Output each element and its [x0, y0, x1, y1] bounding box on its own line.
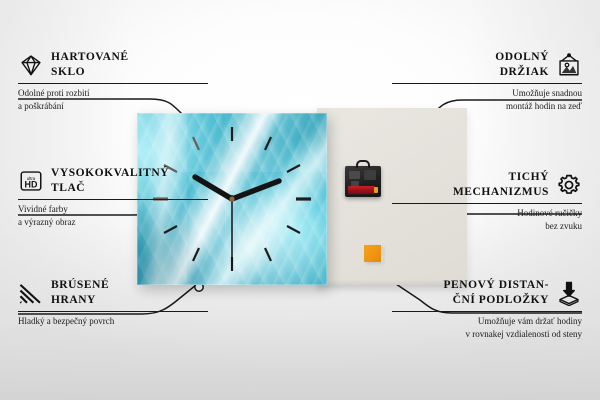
foam-spacer-pad	[364, 245, 381, 262]
feature-desc-line: Umožňuje vám držať hodiny	[392, 315, 582, 328]
gear-icon	[556, 172, 582, 198]
feature-desc-line: Hladký a bezpečný povrch	[18, 315, 208, 328]
ultra-hd-icon: ultra HD	[18, 168, 44, 194]
feature-title-line: TLAČ	[51, 181, 169, 196]
feature-divider	[18, 311, 208, 312]
feature-foam-spacers: PENOVÝ DISTAN- ČNÍ PODLOŽKY Umožňuje vám…	[392, 278, 582, 341]
feature-desc-line: v rovnakej vzdialenosti od steny	[392, 328, 582, 341]
press-down-pad-icon	[556, 280, 582, 306]
feature-title-line: PENOVÝ DISTAN-	[443, 278, 549, 293]
feature-desc-line: a poškrábání	[18, 100, 208, 113]
feature-title-line: BRÚSENÉ	[51, 278, 109, 293]
clock-mechanism	[345, 166, 381, 197]
mechanism-detail	[349, 171, 360, 179]
feature-ground-edges: BRÚSENÉ HRANY Hladký a bezpečný povrch	[18, 278, 208, 328]
mechanism-hanger	[356, 160, 370, 168]
picture-frame-hanging-icon	[556, 52, 582, 78]
mechanism-battery	[348, 186, 375, 194]
diamond-icon	[18, 52, 44, 78]
feature-divider	[18, 199, 208, 200]
feature-high-quality-print: ultra HD VYSOKOKVALITNÝ TLAČ Vividné far…	[18, 166, 208, 229]
feature-title-line: VYSOKOKVALITNÝ	[51, 166, 169, 181]
feature-silent-mechanism: TICHÝ MECHANIZMUS Hodinové ručičky bez z…	[392, 170, 582, 233]
feature-desc-line: a výrazný obraz	[18, 216, 208, 229]
feature-title-line: ČNÍ PODLOŽKY	[443, 293, 549, 308]
hd-label: HD	[25, 180, 38, 190]
feature-hardened-glass: HARTOVANÉ SKLO Odolné proti rozbití a po…	[18, 50, 208, 113]
feature-title-line: HARTOVANÉ	[51, 50, 129, 65]
feature-desc-line: Hodinové ručičky	[392, 207, 582, 220]
feature-title-line: TICHÝ	[453, 170, 549, 185]
feature-desc-line: bez zvuku	[392, 220, 582, 233]
feature-title-line: MECHANIZMUS	[453, 185, 549, 200]
diagonal-stripes-icon	[18, 280, 44, 306]
feature-divider	[392, 203, 582, 204]
feature-title-line: ODOLNÝ	[495, 50, 549, 65]
feature-title-line: HRANY	[51, 293, 109, 308]
mechanism-detail	[364, 170, 376, 180]
feature-title-line: DRŽIAK	[495, 65, 549, 80]
feature-divider	[18, 83, 208, 84]
feature-divider	[392, 311, 582, 312]
feature-durable-holder: ODOLNÝ DRŽIAK Umožňuje snadnou montáž ho…	[392, 50, 582, 113]
feature-divider	[392, 83, 582, 84]
feature-title-line: SKLO	[51, 65, 129, 80]
feature-desc-line: Vividné farby	[18, 203, 208, 216]
feature-desc-line: montáž hodin na zeď	[392, 100, 582, 113]
feature-desc-line: Umožňuje snadnou	[392, 87, 582, 100]
feature-desc-line: Odolné proti rozbití	[18, 87, 208, 100]
